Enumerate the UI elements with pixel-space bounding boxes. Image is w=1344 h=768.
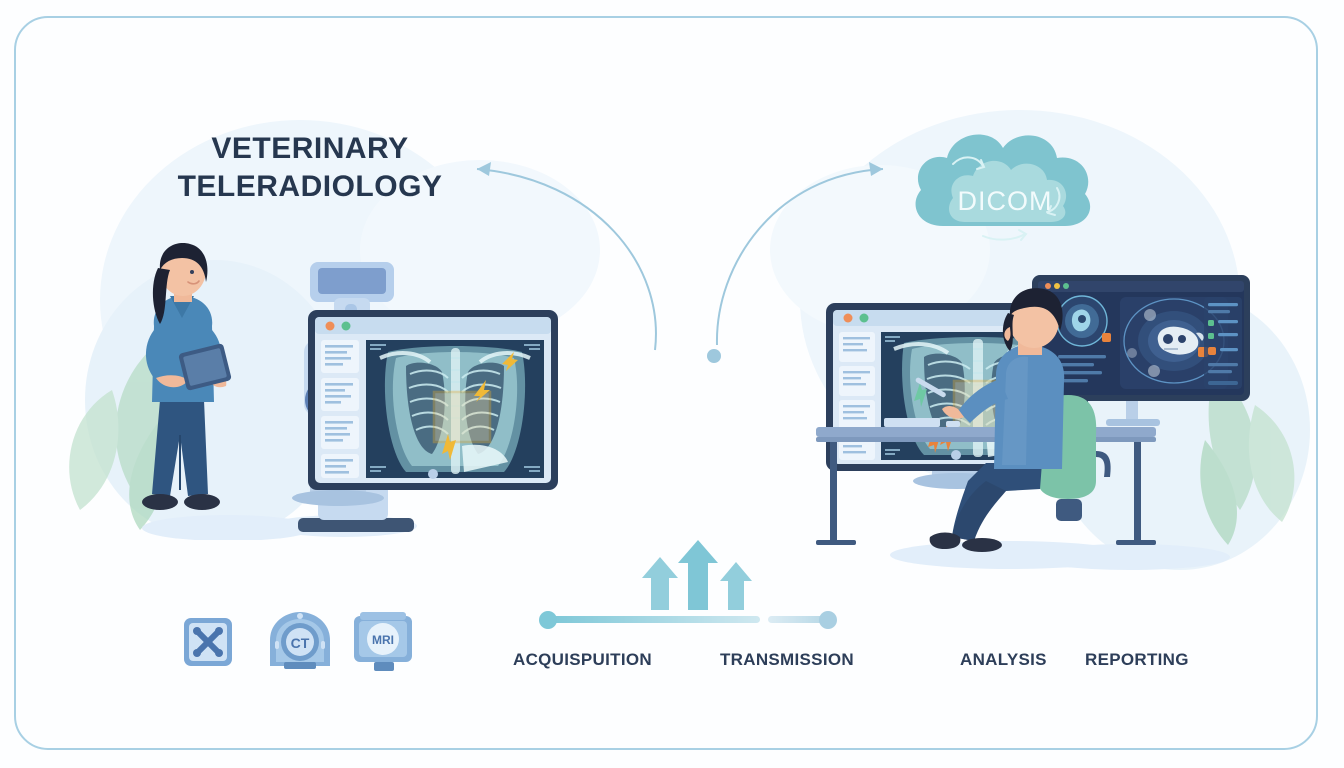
connector-end-dot <box>707 349 721 363</box>
stage-label-transmission: TRANSMISSION <box>720 650 854 670</box>
dicom-label: DICOM <box>958 186 1053 216</box>
arrowhead-right <box>869 162 883 176</box>
roi-box <box>434 392 490 442</box>
flow-timeline <box>530 535 850 635</box>
stage-label-analysis: ANALYSIS <box>960 650 1047 670</box>
acquisition-monitor <box>292 310 558 506</box>
title-line-1: VETERINARY <box>160 130 460 168</box>
stage-label-reporting: REPORTING <box>1085 650 1189 670</box>
xray-icon[interactable] <box>184 618 232 666</box>
mri-scanner-icon[interactable]: MRI <box>354 612 412 671</box>
window-dot-orange <box>326 322 335 331</box>
window-dot-green <box>342 322 351 331</box>
page-title: VETERINARY TELERADIOLOGY <box>160 130 460 206</box>
veterinary-technician <box>142 243 232 510</box>
timeline-dot-start <box>539 611 557 629</box>
ct-scanner-icon[interactable]: CT <box>270 612 330 669</box>
timeline-segment-1 <box>550 616 760 623</box>
upward-arrows <box>642 540 752 610</box>
arrowhead-left <box>477 162 491 176</box>
timeline-dot-end <box>819 611 837 629</box>
stage-label-acquisition: ACQUISPUITION <box>513 650 652 670</box>
analysis-scene <box>810 255 1260 575</box>
dicom-cloud: DICOM <box>905 118 1105 248</box>
window-dot-green <box>860 314 869 323</box>
xray-image <box>366 340 544 478</box>
modality-icons: CT MRI <box>178 608 418 678</box>
window-dot-orange <box>844 314 853 323</box>
acquisition-scene <box>118 240 578 540</box>
timeline-segment-2 <box>768 616 828 623</box>
ct-label: CT <box>291 635 310 651</box>
report-panel <box>321 340 359 478</box>
title-line-2: TELERADIOLOGY <box>160 168 460 206</box>
mri-label: MRI <box>372 633 394 647</box>
infographic-canvas: VETERINARY TELERADIOLOGY DICOM <box>0 0 1344 768</box>
